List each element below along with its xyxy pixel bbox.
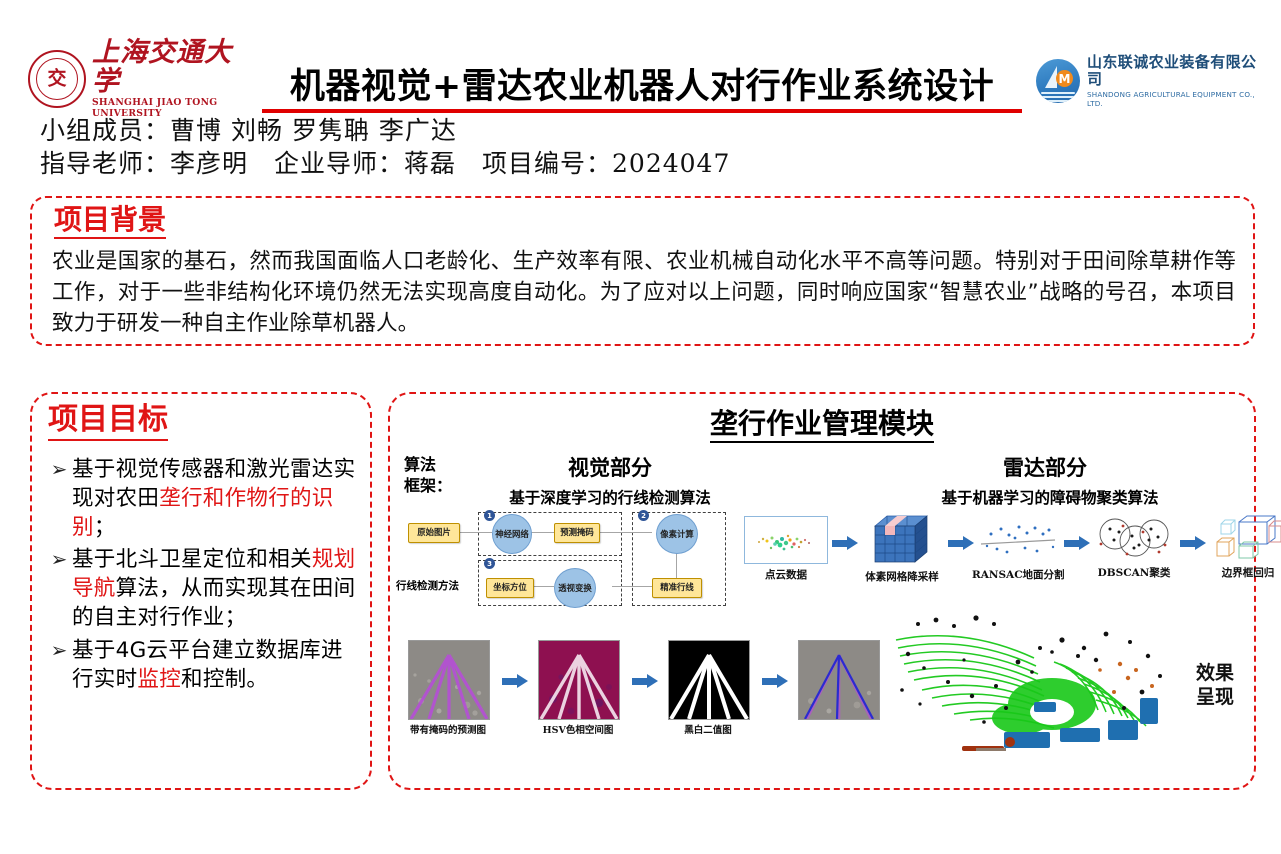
- hsv-svg: [539, 641, 619, 719]
- radar-stage-point-cloud: 点云数据: [740, 516, 832, 582]
- vision-section-subheading: 基于深度学习的行线检测算法: [460, 486, 760, 508]
- ransac-svg: [975, 518, 1061, 564]
- radar-section-subheading: 基于机器学习的障碍物聚类算法: [890, 486, 1210, 508]
- flow-node-neural-network: 神经网络: [492, 514, 532, 554]
- bullet-arrow-icon: ➢: [46, 456, 72, 482]
- vision-section-heading: 视觉部分: [490, 452, 730, 482]
- flow-node-perspective-transform: 透视变换: [554, 568, 596, 608]
- sjtu-name-cn: 上海交通大学: [92, 39, 256, 96]
- background-title: 项目背景: [54, 204, 166, 239]
- goal-text-3: 基于4G云平台建立数据库进行实时监控和控制。: [72, 637, 358, 695]
- module-panel: 垄行作业管理模块 算法 框架： 视觉部分 基于深度学习的行线检测算法 雷达部分 …: [388, 392, 1256, 790]
- flow-connector-network-mask: [530, 532, 554, 533]
- flow-connector-input-network: [458, 532, 492, 533]
- image-caption-3: 黑白二值图: [648, 722, 768, 736]
- list-item: ➢ 基于北斗卫星定位和相关规划导航算法，从而实现其在田间的自主对行作业；: [46, 546, 358, 632]
- radar-stage-dbscan: DBSCAN聚类: [1088, 514, 1180, 580]
- goals-title: 项目目标: [48, 402, 168, 441]
- point-cloud-icon: [744, 516, 828, 564]
- company-name-cn: 山东联诚农业装备有限公司: [1087, 54, 1262, 89]
- flow-node-input-image: 原始图片: [408, 523, 460, 543]
- goals-list: ➢ 基于视觉传感器和激光雷达实现对农田垄行和作物行的识别； ➢ 基于北斗卫星定位…: [46, 456, 358, 698]
- result-arrow-2-icon: [632, 674, 658, 688]
- image-caption-2: HSV色相空间图: [518, 722, 638, 736]
- image-caption-1: 带有掩码的预测图: [388, 722, 508, 736]
- radar-stage-caption-3: RANSAC地面分割: [972, 567, 1064, 582]
- flow-connector-pixel-precise: [676, 550, 677, 580]
- goal-text-2: 基于北斗卫星定位和相关规划导航算法，从而实现其在田间的自主对行作业；: [72, 546, 358, 632]
- enterprise-mentor-label: 企业导师：蒋磊: [274, 149, 456, 178]
- company-name-en: SHANDONG AGRICULTURAL EQUIPMENT CO., LTD…: [1087, 90, 1262, 108]
- bullet-arrow-icon: ➢: [46, 637, 72, 663]
- algorithm-framework-label: 算法 框架：: [404, 454, 452, 496]
- flow-node-pixel-computation: 像素计算: [656, 514, 698, 554]
- masked-prediction-svg: [409, 641, 489, 719]
- ransac-plane-icon: [975, 518, 1061, 564]
- company-logo: M 山东联诚农业装备有限公司 SHANDONG AGRICULTURAL EQU…: [1036, 58, 1262, 104]
- sjtu-seal-glyph: 交: [47, 70, 66, 89]
- result-arrow-1-icon: [502, 674, 528, 688]
- module-title-text: 垄行作业管理模块: [710, 407, 934, 443]
- binary-svg: [669, 641, 749, 719]
- vision-result-image-row: 带有掩码的预测图 HSV色相空间图: [398, 640, 898, 758]
- goals-panel: 项目目标 ➢ 基于视觉传感器和激光雷达实现对农田垄行和作物行的识别； ➢ 基于北…: [30, 392, 372, 790]
- background-panel: 项目背景 农业是国家的基石，然而我国面临人口老龄化、生产效率有限、农业机械自动化…: [30, 196, 1255, 346]
- background-body-text: 农业是国家的基石，然而我国面临人口老龄化、生产效率有限、农业机械自动化水平不高等…: [52, 246, 1236, 340]
- bounding-box-icon: [1209, 514, 1281, 562]
- flow-number-badge-2: 2: [638, 510, 649, 521]
- project-number-label: 项目编号：2024047: [482, 149, 730, 178]
- radar-stage-bbox: 边界框回归: [1202, 514, 1281, 580]
- radar-section-heading: 雷达部分: [920, 452, 1170, 482]
- vision-flowchart: 1 2 3 原始图片 神经网络 预测掩码 像素计算 精准行线 透视变换 坐标方位…: [400, 510, 740, 610]
- members-line: 小组成员：曹博 刘畅 罗隽聃 李广达: [40, 114, 1140, 147]
- list-item: ➢ 基于视觉传感器和激光雷达实现对农田垄行和作物行的识别；: [46, 456, 358, 542]
- poster-header: 交 上海交通大学 SHANGHAI JIAO TONG UNIVERSITY 机…: [0, 0, 1281, 188]
- company-mark-icon: M: [1036, 59, 1080, 103]
- flow-number-badge-1: 1: [484, 510, 495, 521]
- fitted-lines-image: [798, 640, 880, 720]
- poster-title-text: 机器视觉+雷达农业机器人对行作业系统设计: [262, 58, 1022, 109]
- flow-number-badge-3: 3: [484, 558, 495, 569]
- advisor-line: 指导老师：李彦明企业导师：蒋磊项目编号：2024047: [40, 147, 1140, 180]
- algo-label-line2: 框架：: [404, 475, 452, 496]
- flow-method-label: 行线检测方法: [396, 578, 459, 593]
- result-arrow-3-icon: [762, 674, 788, 688]
- flow-node-coordinate-orientation: 坐标方位: [486, 578, 534, 598]
- sjtu-logo: 交 上海交通大学 SHANGHAI JIAO TONG UNIVERSITY: [28, 48, 256, 110]
- voxel-grid-icon: [867, 512, 937, 566]
- lidar-point-cloud-visualization: [884, 600, 1174, 770]
- flow-node-predicted-mask: 预测掩码: [554, 523, 600, 543]
- module-title: 垄行作业管理模块: [390, 402, 1254, 442]
- list-item: ➢ 基于4G云平台建立数据库进行实时监控和控制。: [46, 637, 358, 695]
- goal-text-1: 基于视觉传感器和激光雷达实现对农田垄行和作物行的识别；: [72, 456, 358, 542]
- bullet-arrow-icon: ➢: [46, 546, 72, 572]
- wave-lines-icon: [1041, 96, 1075, 98]
- pipeline-arrow-1-icon: [832, 536, 858, 550]
- flow-node-precise-row-line: 精准行线: [652, 578, 702, 598]
- company-wordmark: 山东联诚农业装备有限公司 SHANDONG AGRICULTURAL EQUIP…: [1087, 54, 1262, 109]
- voxel-grid-svg: [867, 512, 937, 566]
- pipeline-arrow-2-icon: [948, 536, 974, 550]
- algo-label-line1: 算法: [404, 454, 452, 475]
- goal-3-suffix: 和控制。: [181, 667, 268, 692]
- point-cloud-svg: [745, 517, 827, 563]
- project-meta: 小组成员：曹博 刘畅 罗隽聃 李广达 指导老师：李彦明企业导师：蒋磊项目编号：2…: [40, 114, 1140, 180]
- effect-presentation-label: 效果 呈现: [1180, 662, 1250, 710]
- lidar-svg: [884, 600, 1174, 770]
- radar-stage-caption-5: 边界框回归: [1202, 565, 1281, 580]
- goal-1-suffix: ；: [94, 515, 116, 540]
- effect-label-line2: 呈现: [1180, 686, 1250, 710]
- pipeline-arrow-3-icon: [1064, 536, 1090, 550]
- dbscan-cluster-icon: [1091, 514, 1177, 562]
- effect-label-line1: 效果: [1180, 662, 1250, 686]
- radar-stage-voxel: 体素网格降采样: [856, 512, 948, 584]
- page-title: 机器视觉+雷达农业机器人对行作业系统设计: [262, 58, 1022, 113]
- goal-3-highlight: 监控: [137, 667, 181, 692]
- radar-stage-caption-2: 体素网格降采样: [856, 569, 948, 584]
- binary-image: [668, 640, 750, 720]
- masked-prediction-image: [408, 640, 490, 720]
- radar-stage-caption-1: 点云数据: [740, 567, 832, 582]
- poster-root: 交 上海交通大学 SHANGHAI JIAO TONG UNIVERSITY 机…: [0, 0, 1281, 854]
- hsv-hue-image: [538, 640, 620, 720]
- flow-connector-mask-pixel: [596, 532, 652, 533]
- fitted-lines-svg: [799, 641, 879, 719]
- radar-stage-caption-4: DBSCAN聚类: [1088, 565, 1180, 580]
- bbox-svg: [1209, 514, 1281, 562]
- company-mark-letter: M: [1056, 70, 1073, 87]
- goal-2-prefix: 基于北斗卫星定位和相关: [72, 547, 312, 572]
- dbscan-svg: [1091, 514, 1177, 562]
- sjtu-wordmark: 上海交通大学 SHANGHAI JIAO TONG UNIVERSITY: [92, 39, 256, 119]
- sjtu-seal-icon: 交: [28, 50, 86, 108]
- advisor-label: 指导老师：李彦明: [40, 149, 248, 178]
- title-underline: [262, 109, 1022, 113]
- radar-stage-ransac: RANSAC地面分割: [972, 518, 1064, 582]
